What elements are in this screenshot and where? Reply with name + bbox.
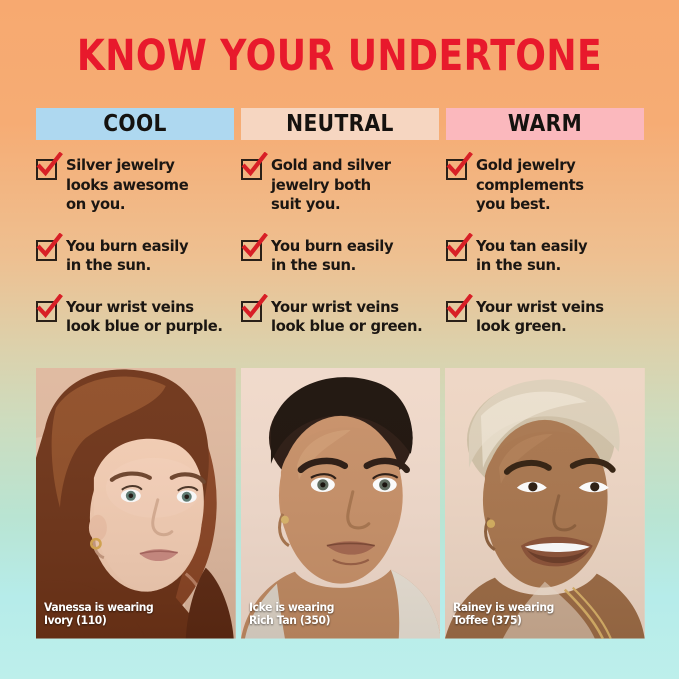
checkbox-checked-icon[interactable] bbox=[241, 240, 262, 261]
check-icon bbox=[240, 152, 268, 180]
list-item[interactable]: Your wrist veins look blue or purple. bbox=[36, 298, 234, 337]
checkbox-checked-icon[interactable] bbox=[446, 301, 467, 322]
undertone-columns: COOL Silver jewelry looks awesome on you… bbox=[36, 108, 645, 337]
list-item-label: You tan easily in the sun. bbox=[476, 237, 587, 276]
list-item-label: Your wrist veins look blue or purple. bbox=[66, 298, 223, 337]
column-header-neutral: NEUTRAL bbox=[253, 108, 427, 140]
column-header-warm: WARM bbox=[458, 108, 632, 140]
list-item[interactable]: You burn easily in the sun. bbox=[241, 237, 439, 276]
photo-caption: Icke is wearing Rich Tan (350) bbox=[249, 601, 334, 627]
list-item[interactable]: Your wrist veins look blue or green. bbox=[241, 298, 439, 337]
checkbox-checked-icon[interactable] bbox=[446, 159, 467, 180]
checkbox-checked-icon[interactable] bbox=[36, 159, 57, 180]
list-item-label: Silver jewelry looks awesome on you. bbox=[66, 156, 188, 215]
check-icon bbox=[445, 233, 473, 261]
check-icon bbox=[445, 294, 473, 322]
list-item-label: Gold and silver jewelry both suit you. bbox=[271, 156, 391, 215]
checklist-warm: Gold jewelry complements you best. You t… bbox=[446, 156, 644, 337]
check-icon bbox=[445, 152, 473, 180]
portrait-image-rainey bbox=[445, 368, 645, 639]
checklist-neutral: Gold and silver jewelry both suit you. Y… bbox=[241, 156, 439, 337]
photo-icke[interactable]: Icke is wearing Rich Tan (350) bbox=[241, 368, 441, 639]
list-item[interactable]: Silver jewelry looks awesome on you. bbox=[36, 156, 234, 215]
list-item[interactable]: Gold jewelry complements you best. bbox=[446, 156, 644, 215]
list-item-label: You burn easily in the sun. bbox=[271, 237, 393, 276]
check-icon bbox=[35, 152, 63, 180]
checkbox-checked-icon[interactable] bbox=[446, 240, 467, 261]
list-item-label: Your wrist veins look blue or green. bbox=[271, 298, 422, 337]
photo-vanessa[interactable]: Vanessa is wearing Ivory (110) bbox=[36, 368, 236, 639]
portrait-image-icke bbox=[241, 368, 441, 639]
checkbox-checked-icon[interactable] bbox=[241, 159, 262, 180]
undertone-infographic: KNOW YOUR UNDERTONE COOL Silver jewelry … bbox=[0, 0, 679, 679]
check-icon bbox=[35, 294, 63, 322]
photo-rainey[interactable]: Rainey is wearing Toffee (375) bbox=[445, 368, 645, 639]
list-item[interactable]: You tan easily in the sun. bbox=[446, 237, 644, 276]
page-title: KNOW YOUR UNDERTONE bbox=[54, 33, 624, 79]
portrait-image-vanessa bbox=[36, 368, 236, 639]
list-item-label: You burn easily in the sun. bbox=[66, 237, 188, 276]
checkbox-checked-icon[interactable] bbox=[36, 240, 57, 261]
photo-caption: Vanessa is wearing Ivory (110) bbox=[44, 601, 153, 627]
checkbox-checked-icon[interactable] bbox=[36, 301, 57, 322]
list-item[interactable]: Gold and silver jewelry both suit you. bbox=[241, 156, 439, 215]
check-icon bbox=[240, 233, 268, 261]
photo-caption: Rainey is wearing Toffee (375) bbox=[453, 601, 554, 627]
column-header-neutral-wrap: NEUTRAL bbox=[241, 108, 439, 140]
column-header-cool: COOL bbox=[48, 108, 222, 140]
list-item[interactable]: Your wrist veins look green. bbox=[446, 298, 644, 337]
check-icon bbox=[240, 294, 268, 322]
column-header-warm-wrap: WARM bbox=[446, 108, 644, 140]
list-item-label: Gold jewelry complements you best. bbox=[476, 156, 584, 215]
column-neutral: NEUTRAL Gold and silver jewelry both sui… bbox=[241, 108, 439, 337]
check-icon bbox=[35, 233, 63, 261]
list-item[interactable]: You burn easily in the sun. bbox=[36, 237, 234, 276]
column-cool: COOL Silver jewelry looks awesome on you… bbox=[36, 108, 234, 337]
column-warm: WARM Gold jewelry complements you best. bbox=[446, 108, 644, 337]
model-photo-gallery: Vanessa is wearing Ivory (110) bbox=[36, 368, 645, 639]
checkbox-checked-icon[interactable] bbox=[241, 301, 262, 322]
column-header-cool-wrap: COOL bbox=[36, 108, 234, 140]
list-item-label: Your wrist veins look green. bbox=[476, 298, 604, 337]
checklist-cool: Silver jewelry looks awesome on you. You… bbox=[36, 156, 234, 337]
